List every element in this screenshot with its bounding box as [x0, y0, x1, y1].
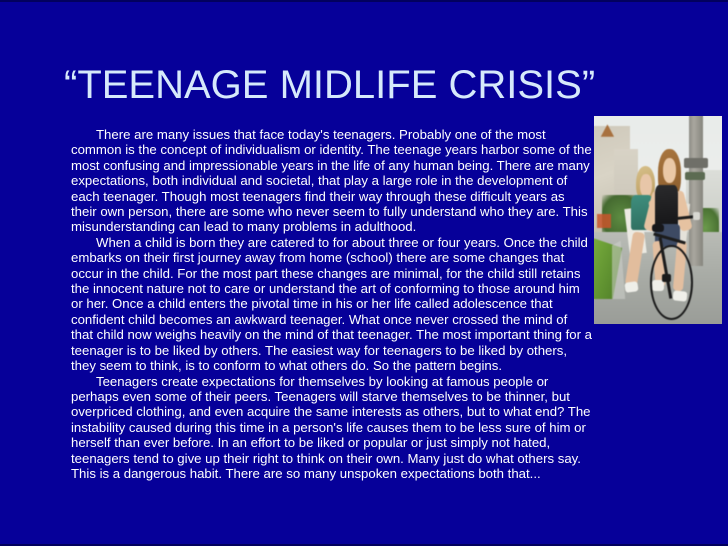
photo-content: [594, 116, 722, 324]
slide-body-text: There are many issues that face today's …: [71, 127, 592, 481]
page-title: “TEENAGE MIDLIFE CRISIS”: [64, 62, 684, 108]
body-paragraph-1: There are many issues that face today's …: [71, 127, 592, 235]
presentation-slide: “TEENAGE MIDLIFE CRISIS” There are many …: [0, 0, 728, 546]
photo-soft-focus-overlay: [594, 116, 722, 324]
two-teenage-girls-riding-bicycle-photo: [594, 116, 722, 324]
body-paragraph-3: Teenagers create expectations for themse…: [71, 374, 592, 482]
body-paragraph-2: When a child is born they are catered to…: [71, 235, 592, 374]
